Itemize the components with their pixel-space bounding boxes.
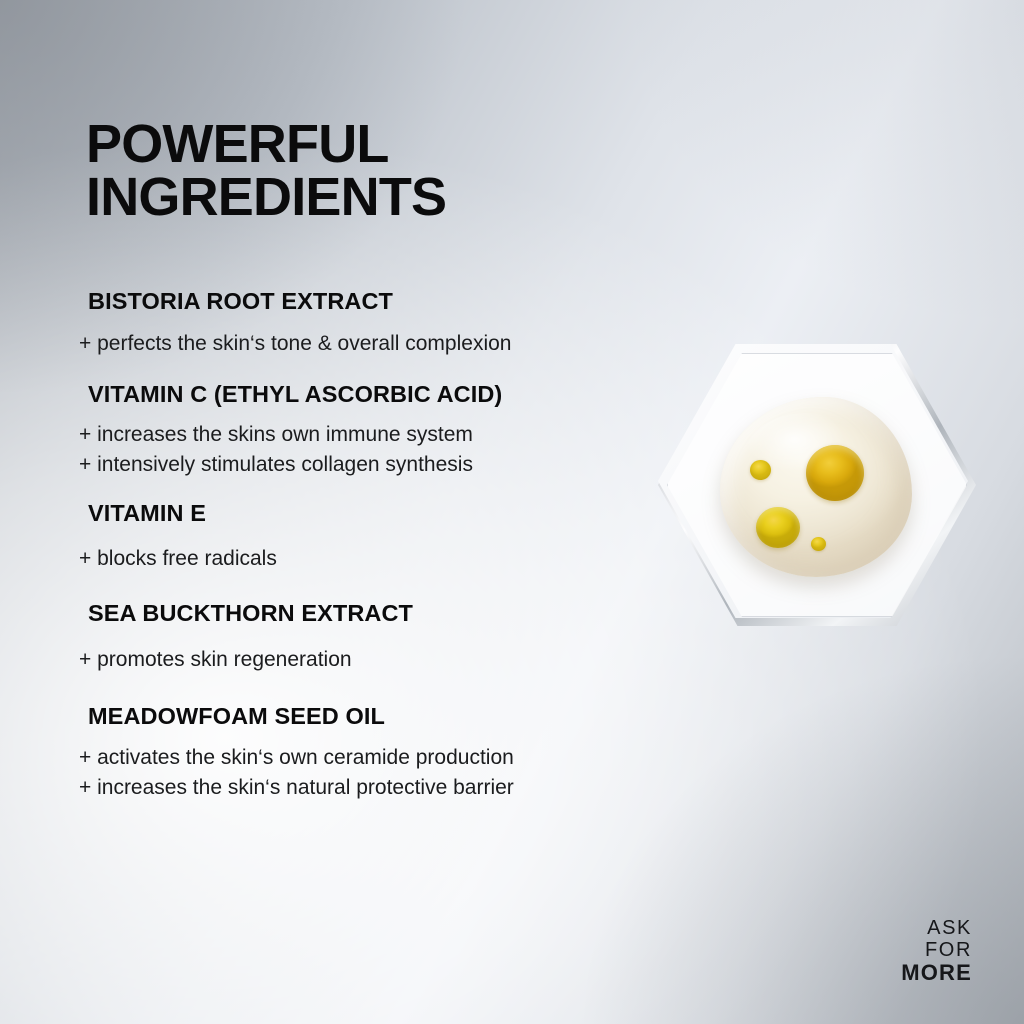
ingredient-benefits: + perfects the skin‘s tone & overall com… [79,329,660,359]
brand-line-for: FOR [901,939,972,961]
ingredient-item: VITAMIN E + blocks free radicals [0,500,660,574]
benefit-line: + increases the skins own immune system [79,420,660,450]
benefit-line: + intensively stimulates collagen synthe… [79,450,660,480]
ingredient-benefits: + promotes skin regeneration [79,645,660,675]
ingredient-item: SEA BUCKTHORN EXTRACT + promotes skin re… [0,600,660,675]
benefit-line: + perfects the skin‘s tone & overall com… [79,329,660,359]
benefit-line: + promotes skin regeneration [79,645,660,675]
serum-blob [720,397,912,577]
product-image [658,344,976,626]
ingredient-benefits: + increases the skins own immune system … [79,420,660,480]
ingredient-item: VITAMIN C (ETHYL ASCORBIC ACID) + increa… [0,381,660,480]
ingredient-item: BISTORIA ROOT EXTRACT + perfects the ski… [0,288,660,359]
brand-line-ask: ASK [901,917,972,939]
ingredient-name: VITAMIN C (ETHYL ASCORBIC ACID) [88,381,660,408]
page-title-line-2: INGREDIENTS [86,171,646,223]
ingredient-item: MEADOWFOAM SEED OIL + activates the skin… [0,703,660,803]
infographic-canvas: POWERFUL INGREDIENTS BISTORIA ROOT EXTRA… [0,0,1024,1024]
oil-droplet-small [750,460,771,480]
ingredient-name: MEADOWFOAM SEED OIL [88,703,660,730]
ingredient-benefits: + activates the skin‘s own ceramide prod… [79,743,660,803]
ingredient-name: BISTORIA ROOT EXTRACT [88,288,660,315]
oil-droplet-medium [756,507,800,548]
brand-lockup: ASK FOR MORE [901,917,972,986]
ingredient-list: BISTORIA ROOT EXTRACT + perfects the ski… [0,288,660,821]
ingredient-name: SEA BUCKTHORN EXTRACT [88,600,660,627]
ingredient-benefits: + blocks free radicals [79,544,660,574]
page-title-line-1: POWERFUL [86,118,646,170]
benefit-line: + activates the skin‘s own ceramide prod… [79,743,660,773]
ingredient-name: VITAMIN E [88,500,660,527]
benefit-line: + increases the skin‘s natural protectiv… [79,773,660,803]
oil-droplet-tiny [811,537,826,551]
page-title: POWERFUL INGREDIENTS [86,118,646,223]
benefit-line: + blocks free radicals [79,544,660,574]
oil-droplet-large [806,445,864,501]
brand-line-more: MORE [901,961,972,986]
